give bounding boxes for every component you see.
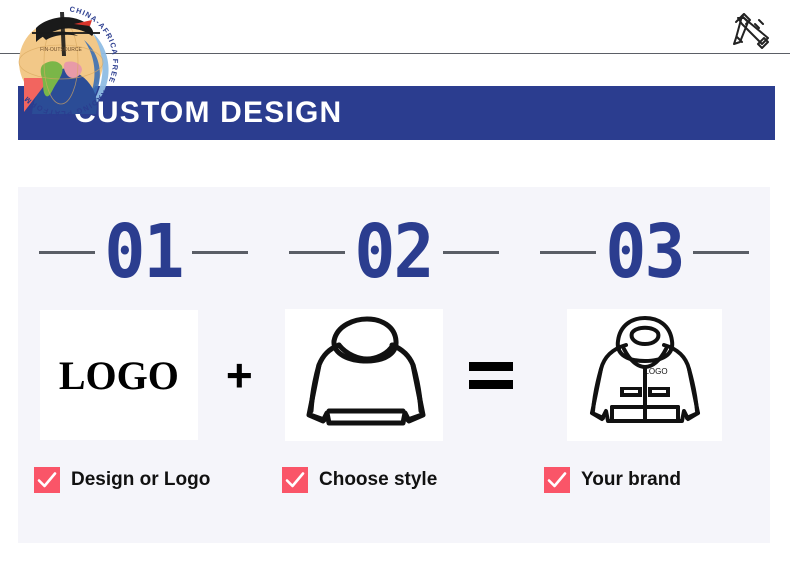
dash-left-icon: [39, 251, 95, 254]
china-africa-trading-platform-logo: CHINA-AFRICA FREE TRADING PLATFORM FIN-O…: [4, 2, 122, 120]
check-label-01: Design or Logo: [71, 469, 210, 491]
step-check-row: Design or Logo Choose style Your brand: [18, 460, 770, 500]
dash-right-icon: [443, 251, 499, 254]
step-media-cell-02: [269, 309, 520, 441]
check-label-02: Choose style: [319, 469, 437, 491]
hoodie-branded-illustration[interactable]: LOGO: [567, 309, 722, 441]
steps-panel: 01 02 03 LOGO +: [18, 187, 770, 543]
step-media-row: LOGO +: [18, 305, 770, 445]
checkbox-checked-icon[interactable]: [544, 467, 570, 493]
checkbox-checked-icon[interactable]: [34, 467, 60, 493]
step-number-01: 01: [104, 215, 182, 289]
check-item-your-brand[interactable]: Your brand: [508, 460, 770, 500]
step-header-01: 01: [18, 207, 269, 297]
check-item-choose-style[interactable]: Choose style: [260, 460, 508, 500]
check-label-03: Your brand: [581, 469, 681, 491]
checkbox-checked-icon[interactable]: [282, 467, 308, 493]
step-media-cell-03: LOGO: [519, 309, 770, 441]
dash-left-icon: [540, 251, 596, 254]
plus-operator: +: [226, 352, 253, 398]
dash-right-icon: [693, 251, 749, 254]
dash-left-icon: [289, 251, 345, 254]
step-number-03: 03: [606, 215, 684, 289]
step-number-02: 02: [355, 215, 433, 289]
dash-right-icon: [192, 251, 248, 254]
hoodie-chest-logo-label: LOGO: [644, 367, 667, 376]
hoodie-blank-illustration[interactable]: [285, 309, 443, 441]
logo-inner-text: FIN-OUTSOURCE: [40, 47, 82, 53]
step-header-03: 03: [519, 207, 770, 297]
check-item-design-or-logo[interactable]: Design or Logo: [18, 460, 260, 500]
step-numbers-row: 01 02 03: [18, 207, 770, 297]
logo-placeholder-box[interactable]: LOGO: [40, 310, 198, 440]
logo-placeholder-label: LOGO: [59, 352, 179, 399]
pencil-ruler-icon[interactable]: [728, 8, 774, 54]
step-media-cell-01: LOGO +: [18, 310, 269, 440]
custom-design-page: CHINA-AFRICA FREE TRADING PLATFORM FIN-O…: [0, 0, 790, 570]
step-header-02: 02: [269, 207, 520, 297]
custom-design-banner: CUSTOM DESIGN: [18, 86, 775, 140]
equals-operator: [469, 362, 513, 389]
